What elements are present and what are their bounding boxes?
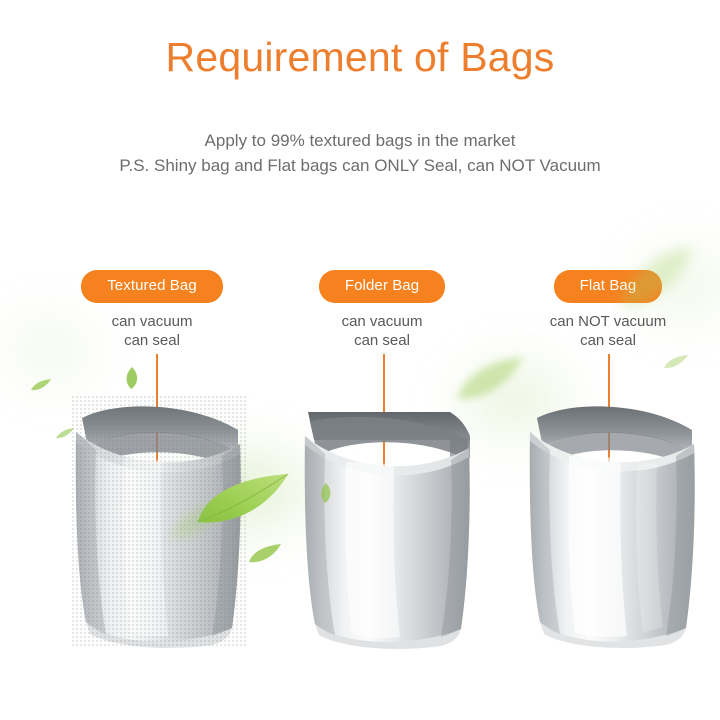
caption-textured-bag: can vacuum can seal xyxy=(32,312,272,350)
badge-folder-bag[interactable]: Folder Bag xyxy=(319,270,445,303)
column-textured-bag: Textured Bag can vacuum can seal xyxy=(32,270,272,350)
badge-flat-bag[interactable]: Flat Bag xyxy=(554,270,663,303)
caption-line-2: can seal xyxy=(32,331,272,350)
caption-line-1: can NOT vacuum xyxy=(488,312,720,331)
bag-image-textured xyxy=(72,396,248,648)
badge-textured-bag[interactable]: Textured Bag xyxy=(81,270,223,303)
leaf-decoration xyxy=(663,354,689,370)
page-subtitle: Apply to 99% textured bags in the market… xyxy=(0,128,720,178)
subtitle-line-1: Apply to 99% textured bags in the market xyxy=(205,131,516,150)
column-flat-bag: Flat Bag can NOT vacuum can seal xyxy=(488,270,720,350)
caption-flat-bag: can NOT vacuum can seal xyxy=(488,312,720,350)
bag-image-folder xyxy=(300,396,476,648)
caption-folder-bag: can vacuum can seal xyxy=(262,312,502,350)
subtitle-line-2: P.S. Shiny bag and Flat bags can ONLY Se… xyxy=(0,153,720,178)
infographic-canvas: Requirement of Bags Apply to 99% texture… xyxy=(0,0,720,720)
column-folder-bag: Folder Bag can vacuum can seal xyxy=(262,270,502,350)
leaf-decoration xyxy=(123,366,141,390)
caption-line-1: can vacuum xyxy=(262,312,502,331)
caption-line-1: can vacuum xyxy=(32,312,272,331)
leaf-decoration xyxy=(248,543,282,565)
caption-line-2: can seal xyxy=(262,331,502,350)
bag-image-flat xyxy=(525,396,701,648)
page-title: Requirement of Bags xyxy=(0,33,720,81)
caption-line-2: can seal xyxy=(488,331,720,350)
leaf-decoration xyxy=(30,378,52,392)
